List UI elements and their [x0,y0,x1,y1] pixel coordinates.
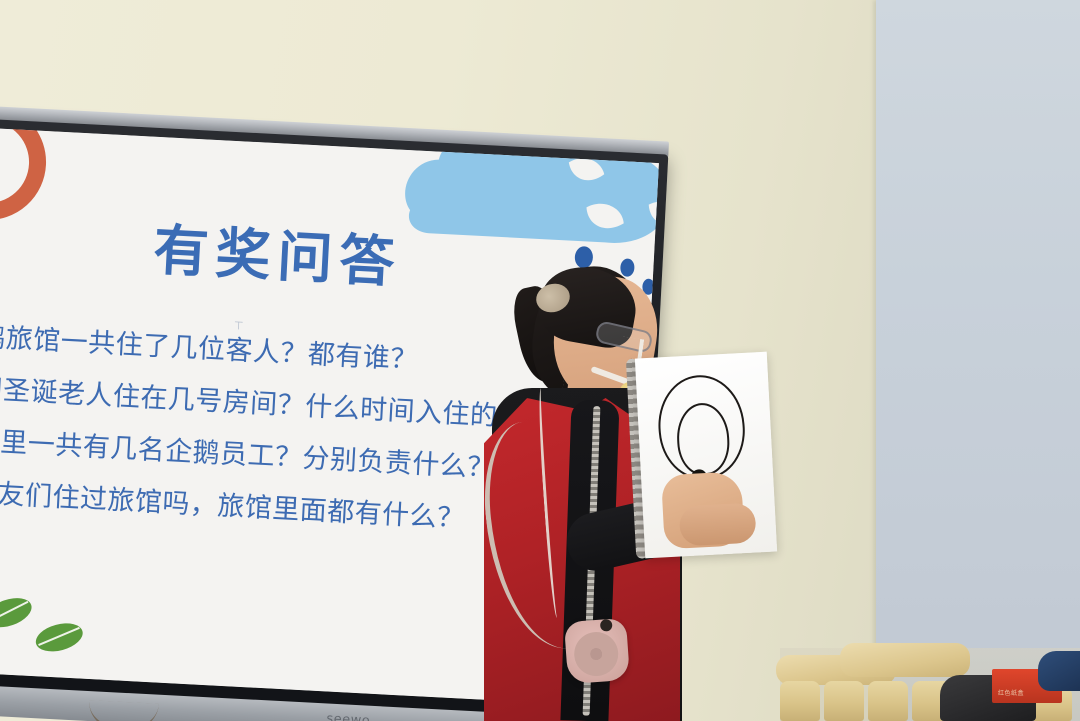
green-leaves-icon [0,585,106,662]
flipchart-pad[interactable] [635,352,777,559]
seewo-brand-logo: seewo [326,711,371,721]
furniture-group: 红色纸盒 [770,628,1080,721]
hand-lower [679,503,757,547]
stool-leg [868,681,908,721]
photo-scene: 有奖问答 ⊤ 企鹅旅馆一共住了几位客人？都有谁？ 请问圣诞老人住在几号房间？什么… [0,0,1080,721]
slide-title: 有奖问答 [152,223,403,291]
blue-object [1038,651,1080,691]
speaker-knob[interactable] [600,619,613,632]
stool-seat [840,643,970,677]
panel-mount-bracket [88,700,159,721]
red-box-label: 红色纸盒 [998,688,1024,697]
wall-right [876,0,1080,721]
portable-speaker[interactable] [564,618,630,684]
stool-leg [824,681,864,721]
speaker-grill [573,631,620,678]
slide-tick-mark: ⊤ [233,319,243,332]
stool-leg [780,681,820,721]
orange-ring-icon [0,127,49,223]
